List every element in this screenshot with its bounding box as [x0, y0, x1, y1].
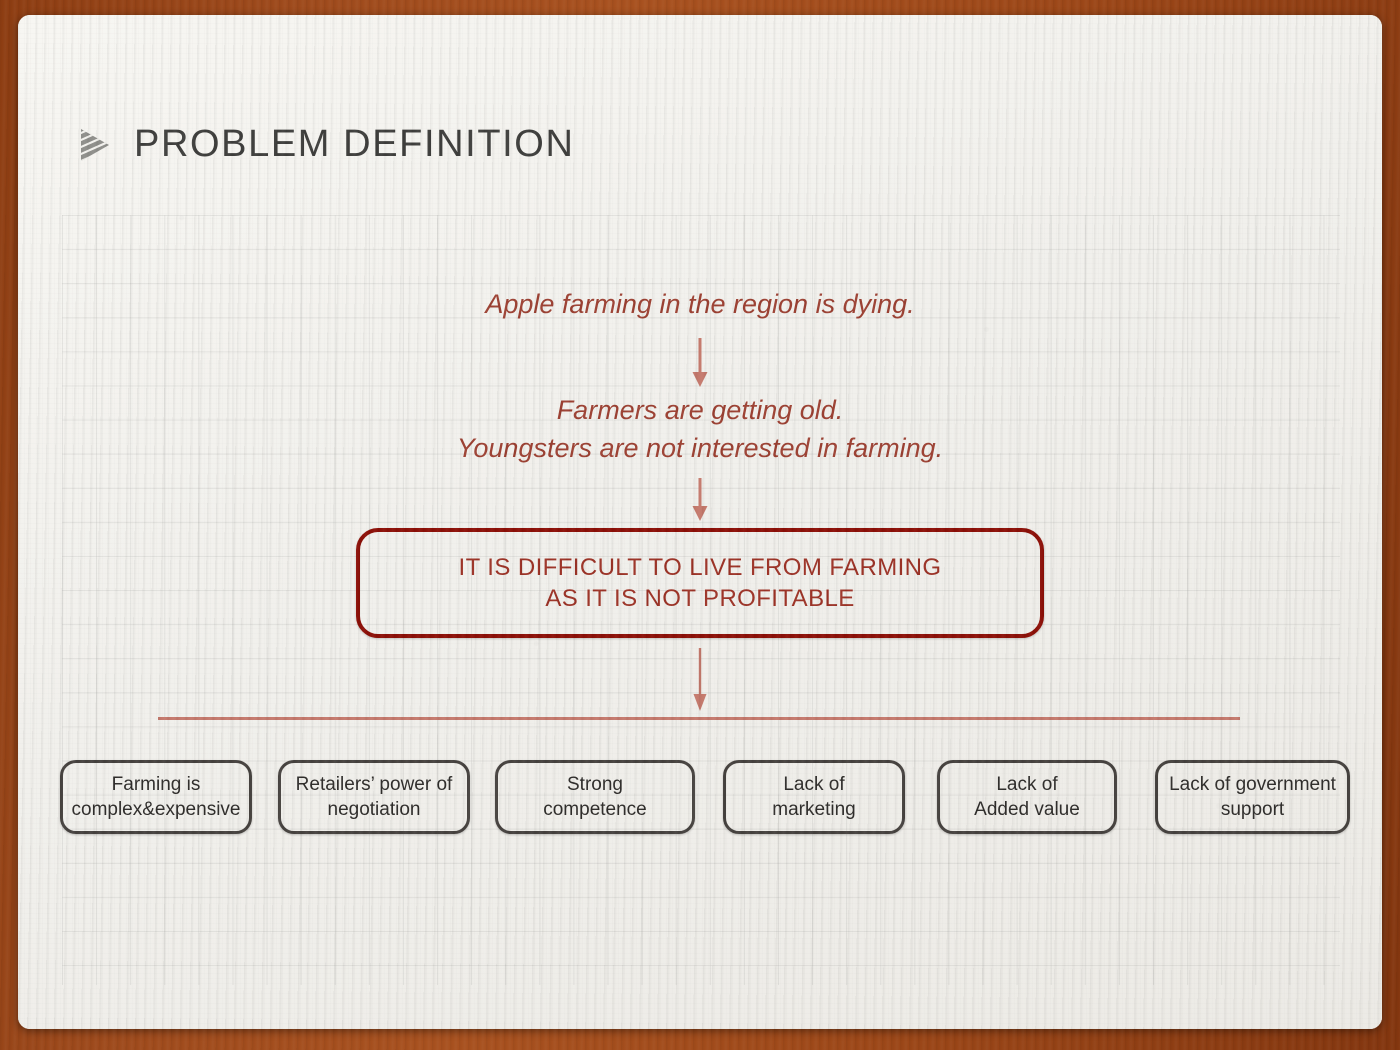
factor-connector-line	[158, 717, 1240, 720]
main-problem-box: IT IS DIFFICULT TO LIVE FROM FARMING AS …	[356, 528, 1044, 638]
factor-box[interactable]: Retailers’ power of negotiation	[278, 760, 470, 834]
factor-box[interactable]: Lack of Added value	[937, 760, 1117, 834]
factor-box[interactable]: Lack of marketing	[723, 760, 905, 834]
factor-box[interactable]: Farming is complex&expensive	[60, 760, 252, 834]
page-title: PROBLEM DEFINITION	[78, 123, 575, 166]
factor-box-label: Lack of marketing	[766, 772, 861, 822]
factor-box-label: Retailers’ power of negotiation	[290, 772, 459, 822]
striped-play-triangle-icon	[78, 127, 112, 163]
slide-outer-frame: PROBLEM DEFINITION Apple farming in the …	[0, 0, 1400, 1050]
flow-step-2-text: Farmers are getting old. Youngsters are …	[18, 391, 1382, 467]
paper-texture	[18, 15, 1382, 1029]
factor-box[interactable]: Lack of government support	[1155, 760, 1350, 834]
arrow-down-icon	[689, 338, 711, 388]
factor-box-row: Farming is complex&expensiveRetailers’ p…	[60, 760, 1350, 834]
factor-box-label: Farming is complex&expensive	[66, 772, 247, 822]
arrow-down-icon	[689, 478, 711, 522]
arrow-down-icon	[689, 648, 711, 712]
flow-step-1-text: Apple farming in the region is dying.	[18, 285, 1382, 323]
page-title-text: PROBLEM DEFINITION	[134, 123, 575, 166]
slide-card: PROBLEM DEFINITION Apple farming in the …	[18, 15, 1382, 1029]
factor-box-label: Lack of Added value	[968, 772, 1086, 822]
factor-box[interactable]: Strong competence	[495, 760, 695, 834]
main-problem-text: IT IS DIFFICULT TO LIVE FROM FARMING AS …	[459, 552, 942, 614]
factor-box-label: Lack of government support	[1163, 772, 1342, 822]
factor-box-label: Strong competence	[537, 772, 653, 822]
